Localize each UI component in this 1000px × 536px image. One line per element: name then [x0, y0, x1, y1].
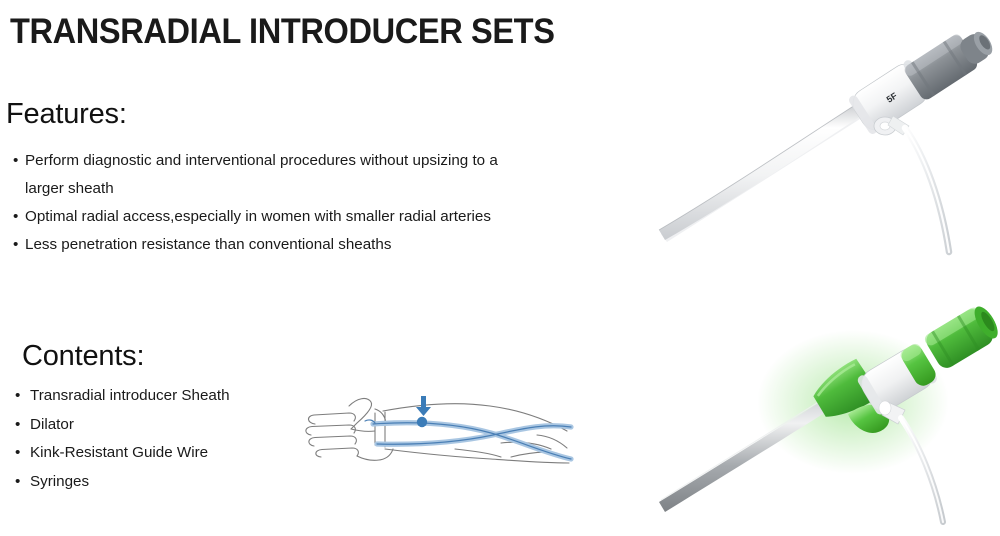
- list-item: • Dilator: [15, 411, 345, 440]
- bullet-icon: •: [15, 382, 20, 411]
- list-item: • Less penetration resistance than conve…: [13, 231, 533, 259]
- list-item-label: Syringes: [30, 468, 345, 497]
- bullet-icon: •: [13, 203, 18, 231]
- bullet-icon: •: [15, 468, 20, 497]
- list-item-label: Transradial introducer Sheath: [30, 382, 345, 411]
- contents-list: • Transradial introducer Sheath • Dilato…: [15, 382, 345, 496]
- list-item-label: Perform diagnostic and interventional pr…: [25, 147, 533, 203]
- bullet-icon: •: [15, 439, 20, 468]
- contents-heading: Contents:: [22, 340, 144, 373]
- list-item-label: Less penetration resistance than convent…: [25, 231, 533, 259]
- list-item: • Optimal radial access,especially in wo…: [13, 203, 533, 231]
- list-item-label: Kink-Resistant Guide Wire: [30, 439, 345, 468]
- list-item: • Kink-Resistant Guide Wire: [15, 439, 345, 468]
- bullet-icon: •: [13, 231, 18, 259]
- list-item: • Syringes: [15, 468, 345, 497]
- list-item: • Transradial introducer Sheath: [15, 382, 345, 411]
- features-list: • Perform diagnostic and interventional …: [13, 147, 533, 259]
- list-item: • Perform diagnostic and interventional …: [13, 147, 533, 203]
- page-title: TRANSRADIAL INTRODUCER SETS: [10, 12, 555, 52]
- forearm-radial-access-illustration: [305, 383, 590, 493]
- bullet-icon: •: [15, 411, 20, 440]
- radial-access-point-marker: [417, 417, 427, 427]
- transradial-introducer-sheath-green-photo: [657, 286, 1000, 526]
- list-item-label: Optimal radial access,especially in wome…: [25, 203, 533, 231]
- features-heading: Features:: [6, 98, 127, 131]
- list-item-label: Dilator: [30, 411, 345, 440]
- bullet-icon: •: [13, 147, 18, 175]
- transradial-introducer-sheath-5f-photo: 5F: [657, 8, 1000, 262]
